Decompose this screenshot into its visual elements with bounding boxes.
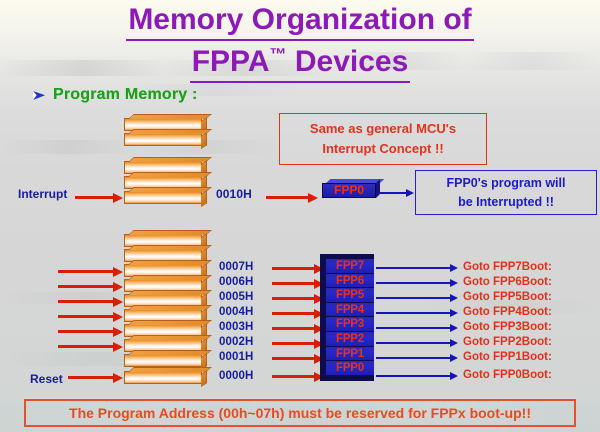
goto-target-label: Goto FPP0Boot: (463, 369, 552, 381)
vector-arrow-left (58, 281, 123, 292)
address-to-fpp-arrow (272, 263, 324, 274)
address-label: 0000H (219, 370, 253, 382)
slide-canvas: Memory Organization of FPPA™ Devices Pro… (0, 0, 600, 432)
address-label: 0003H (219, 321, 253, 333)
callout-fpp0-line-2: be Interrupted !! (416, 193, 596, 212)
fpp-to-goto-arrow (376, 308, 458, 317)
callout-mcu-note: Same as general MCU's Interrupt Concept … (279, 113, 487, 165)
title-devices: Devices (287, 45, 409, 78)
goto-target-label: Goto FPP3Boot: (463, 321, 552, 333)
address-to-fpp-arrow (272, 293, 324, 304)
fpp-vector-stack: FPP7 FPP6 FPP5 FPP4 FPP3 FPP2 FPP1 FPP0 (326, 259, 374, 376)
address-label: 0002H (219, 336, 253, 348)
goto-target-label: Goto FPP4Boot: (463, 306, 552, 318)
fpp-cell: FPP6 (326, 274, 374, 289)
trademark-symbol: ™ (270, 45, 287, 64)
title-line-1: Memory Organization of (126, 2, 473, 41)
fpp-cell: FPP2 (326, 332, 374, 347)
vector-arrow-left (58, 266, 123, 277)
memory-block (124, 354, 202, 367)
bottom-note-banner: The Program Address (00h~07h) must be re… (24, 399, 576, 427)
callout-fpp0-line-1: FPP0's program will (416, 174, 596, 193)
goto-target-label: Goto FPP6Boot: (463, 276, 552, 288)
address-label: 0007H (219, 261, 253, 273)
memory-block (124, 133, 202, 146)
callout-fpp0-note: FPP0's program will be Interrupted !! (415, 170, 597, 215)
fpp0-interrupt-box: FPP0 (322, 179, 376, 198)
arrow-bullet-icon (32, 89, 46, 102)
fpp-to-goto-arrow (376, 353, 458, 362)
address-to-fpp-arrow (272, 278, 324, 289)
fpp-to-goto-arrow (376, 263, 458, 272)
title-line-2: FPPA™ Devices (190, 44, 411, 83)
reset-label: Reset (30, 372, 63, 386)
goto-target-label: Goto FPP7Boot: (463, 261, 552, 273)
address-to-fpp-arrow (272, 371, 324, 382)
fpp-to-goto-arrow (376, 338, 458, 347)
fpp-cell: FPP5 (326, 288, 374, 303)
section-heading-label: Program Memory : (53, 86, 198, 104)
fpp-to-goto-arrow (376, 293, 458, 302)
interrupt-to-fpp0-arrow (266, 192, 318, 203)
vector-arrow-left (58, 296, 123, 307)
fpp-cell: FPP4 (326, 303, 374, 318)
address-label: 0006H (219, 276, 253, 288)
vector-arrow-left (58, 326, 123, 337)
slide-title: Memory Organization of FPPA™ Devices (0, 0, 600, 83)
address-to-fpp-arrow (272, 308, 324, 319)
address-label: 0001H (219, 351, 253, 363)
address-to-fpp-arrow (272, 323, 324, 334)
callout-mcu-line-1: Same as general MCU's (280, 119, 486, 139)
goto-target-label: Goto FPP2Boot: (463, 336, 552, 348)
fpp-to-goto-arrow (376, 371, 458, 380)
fpp-to-goto-arrow (376, 278, 458, 287)
address-label: 0004H (219, 306, 253, 318)
address-to-fpp-arrow (272, 353, 324, 364)
goto-target-label: Goto FPP1Boot: (463, 351, 552, 363)
fpp-cell: FPP0 (326, 361, 374, 376)
address-label: 0005H (219, 291, 253, 303)
goto-target-label: Goto FPP5Boot: (463, 291, 552, 303)
fpp-cell: FPP3 (326, 317, 374, 332)
interrupt-arrow (75, 192, 123, 203)
fpp0-box-label: FPP0 (322, 183, 376, 198)
vector-arrow-left (58, 341, 123, 352)
memory-block-reset-vector (124, 371, 202, 384)
fpp0-to-note-arrow (378, 188, 414, 197)
memory-block-interrupt-vector (124, 191, 202, 204)
address-to-fpp-arrow (272, 338, 324, 349)
section-heading: Program Memory : (32, 86, 198, 104)
reset-arrow (68, 372, 123, 383)
fpp-cell: FPP7 (326, 259, 374, 274)
fpp-cell: FPP1 (326, 347, 374, 362)
vector-arrow-left (58, 311, 123, 322)
interrupt-label: Interrupt (18, 187, 67, 201)
fpp-to-goto-arrow (376, 323, 458, 332)
interrupt-address-label: 0010H (216, 187, 252, 201)
callout-mcu-line-2: Interrupt Concept !! (280, 139, 486, 159)
title-fppa: FPPA (192, 45, 270, 78)
